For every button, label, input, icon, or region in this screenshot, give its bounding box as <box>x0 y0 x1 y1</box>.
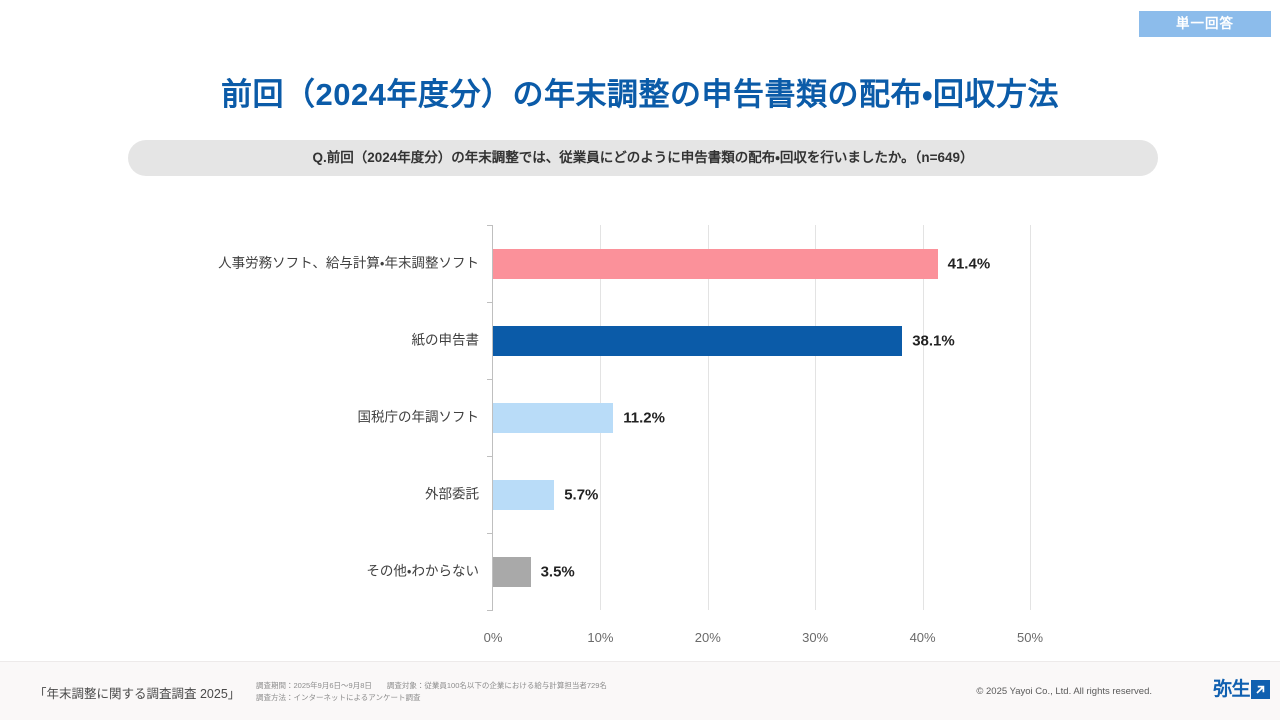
bar-value-label: 41.4% <box>948 255 991 272</box>
y-axis-tick <box>487 456 493 457</box>
bar-value-label: 11.2% <box>623 409 665 426</box>
answer-type-badge: 単一回答 <box>1139 11 1271 37</box>
x-axis-tick-label: 50% <box>1017 630 1043 645</box>
chart-plot-area: 人事労務ソフト、給与計算・年末調整ソフト41.4%紙の申告書38.1%国税庁の年… <box>493 225 1030 610</box>
y-axis-tick <box>487 610 493 611</box>
x-axis-tick-label: 20% <box>695 630 721 645</box>
chart-category-row: 人事労務ソフト、給与計算・年末調整ソフト41.4% <box>493 225 1030 302</box>
footer-meta-line-1: 調査期間：2025年9月6日〜9月8日 調査対象：従業員100名以下の企業におけ… <box>256 680 607 692</box>
category-label: その他・わからない <box>179 561 479 582</box>
yayoi-logo: 弥生 <box>1213 680 1270 699</box>
bar-chart: 人事労務ソフト、給与計算・年末調整ソフト41.4%紙の申告書38.1%国税庁の年… <box>0 205 1280 645</box>
x-axis-tick-label: 30% <box>802 630 828 645</box>
category-label: 紙の申告書 <box>179 330 479 351</box>
x-axis-tick-label: 10% <box>587 630 613 645</box>
x-axis: 0%10%20%30%40%50% <box>493 630 1030 654</box>
y-axis-tick <box>487 225 493 226</box>
copyright-text: © 2025 Yayoi Co., Ltd. All rights reserv… <box>976 686 1152 697</box>
x-axis-tick-label: 0% <box>484 630 503 645</box>
chart-bar <box>493 249 938 279</box>
chart-bar <box>493 557 531 587</box>
page-title: 前回（2024年度分）の年末調整の申告書類の配布・回収方法 <box>0 76 1280 113</box>
category-label: 外部委託 <box>179 484 479 505</box>
chart-category-row: 国税庁の年調ソフト11.2% <box>493 379 1030 456</box>
arrow-up-right-icon <box>1251 680 1270 699</box>
y-axis-tick <box>487 379 493 380</box>
category-label: 人事労務ソフト、給与計算・年末調整ソフト <box>179 253 479 274</box>
chart-bar <box>493 403 613 433</box>
footer: 「年末調整に関する調査調査 2025」 調査期間：2025年9月6日〜9月8日 … <box>0 661 1280 720</box>
footer-survey-title: 「年末調整に関する調査調査 2025」 <box>34 683 240 702</box>
question-text: Q.前回（2024年度分）の年末調整では、従業員にどのように申告書類の配布・回収… <box>312 151 973 165</box>
x-axis-tick-label: 40% <box>910 630 936 645</box>
header-bar: 単一回答 <box>0 0 1280 46</box>
y-axis-tick <box>487 302 493 303</box>
footer-meta-line-2: 調査方法：インターネットによるアンケート調査 <box>256 692 607 704</box>
question-banner: Q.前回（2024年度分）の年末調整では、従業員にどのように申告書類の配布・回収… <box>128 140 1158 176</box>
bar-value-label: 5.7% <box>564 486 598 503</box>
bar-value-label: 3.5% <box>541 563 575 580</box>
yayoi-logo-text: 弥生 <box>1213 680 1250 699</box>
chart-bar <box>493 326 902 356</box>
y-axis-tick <box>487 533 493 534</box>
chart-category-row: 外部委託5.7% <box>493 456 1030 533</box>
gridline <box>1030 225 1031 610</box>
category-label: 国税庁の年調ソフト <box>179 407 479 428</box>
chart-category-row: その他・わからない3.5% <box>493 533 1030 610</box>
bar-value-label: 38.1% <box>912 332 955 349</box>
chart-bar <box>493 480 554 510</box>
chart-category-row: 紙の申告書38.1% <box>493 302 1030 379</box>
footer-survey-meta: 調査期間：2025年9月6日〜9月8日 調査対象：従業員100名以下の企業におけ… <box>256 680 607 703</box>
